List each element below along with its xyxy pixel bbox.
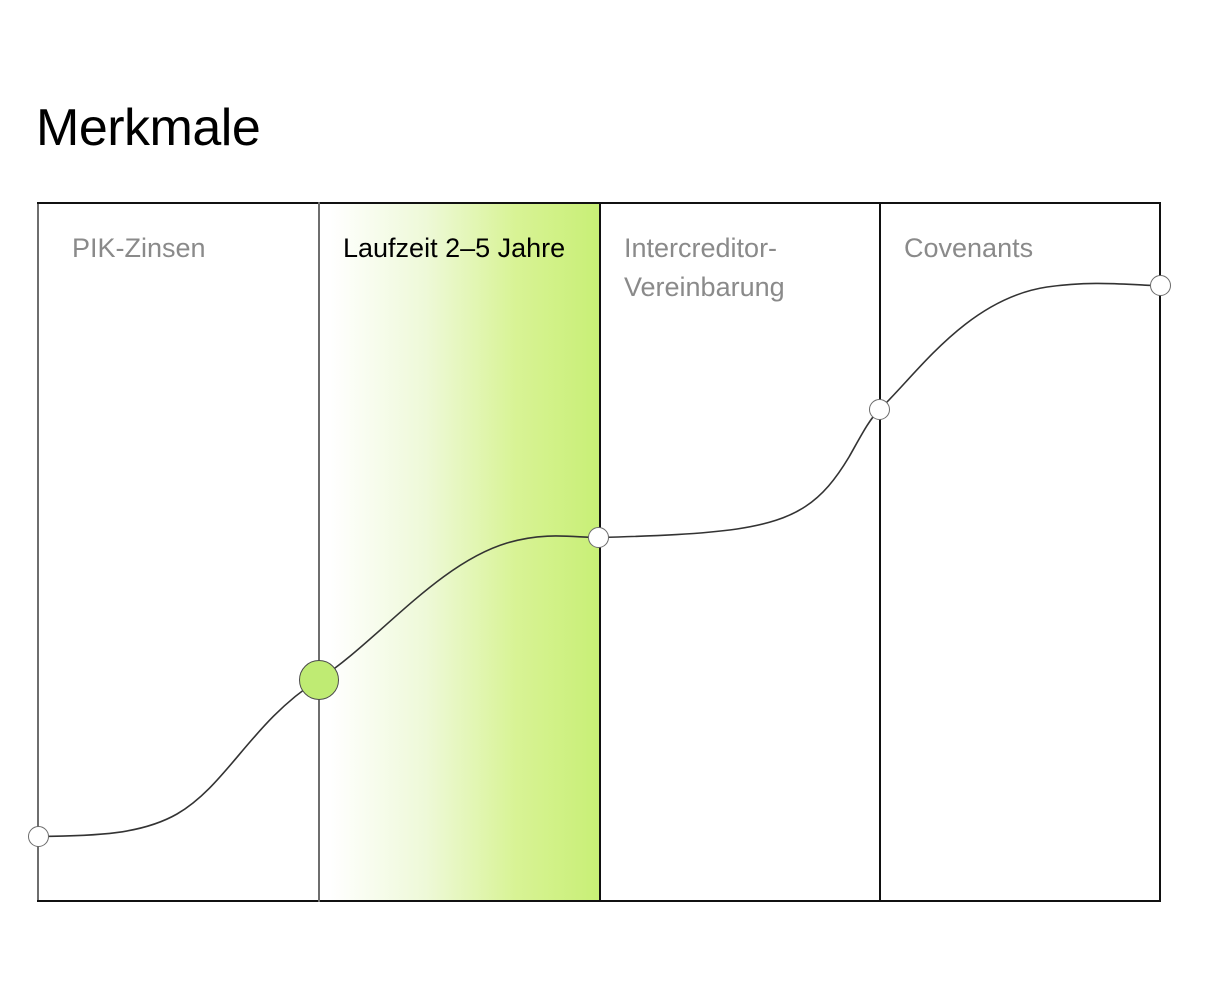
trend-curve <box>37 202 1161 902</box>
data-point-pik-zinsen[interactable] <box>28 826 49 847</box>
data-point-intercreditor-start[interactable] <box>588 527 609 548</box>
data-point-covenants-end[interactable] <box>1150 275 1171 296</box>
page-title: Merkmale <box>36 98 260 158</box>
data-point-covenants-start[interactable] <box>869 399 890 420</box>
slide-canvas: Merkmale PIK-Zinsen Laufzeit 2–5 Jahre I… <box>0 0 1211 999</box>
data-point-laufzeit-highlighted[interactable] <box>299 660 339 700</box>
chart-frame: PIK-Zinsen Laufzeit 2–5 Jahre Intercredi… <box>37 202 1161 902</box>
